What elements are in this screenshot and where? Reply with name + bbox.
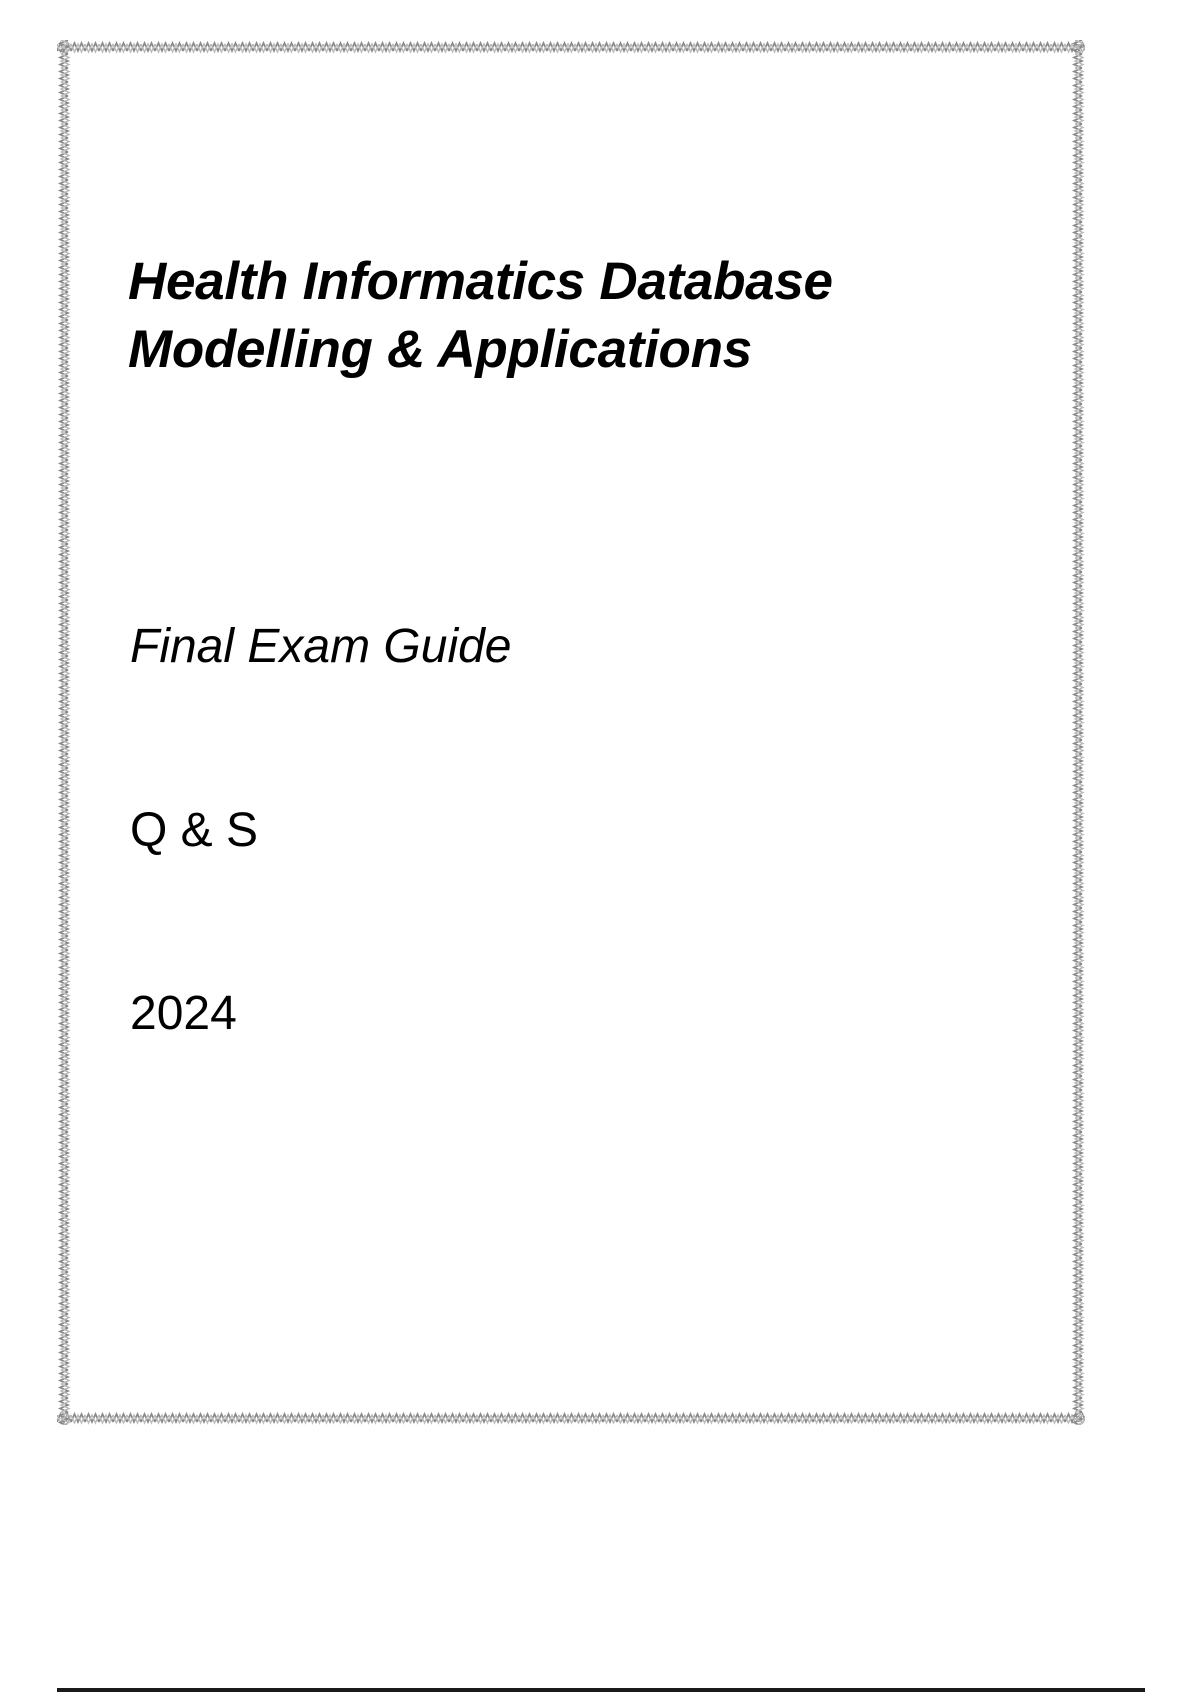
page-separator-rule	[57, 1688, 1145, 1692]
page-border-left-icon	[57, 40, 71, 1425]
page-border-right-icon	[1071, 40, 1085, 1425]
page-border-bottom-icon	[57, 1411, 1085, 1425]
page-border-top-icon	[57, 40, 1085, 54]
page-title-line-1: Health Informatics Database	[128, 252, 833, 311]
page-title-line-2: Modelling & Applications	[128, 320, 752, 379]
document-code: Q & S	[130, 802, 258, 860]
document-subtitle: Final Exam Guide	[130, 618, 512, 676]
page-title: Health Informatics DatabaseModelling & A…	[128, 248, 1048, 384]
document-page: Health Informatics DatabaseModelling & A…	[0, 0, 1200, 1640]
document-year: 2024	[130, 985, 237, 1043]
